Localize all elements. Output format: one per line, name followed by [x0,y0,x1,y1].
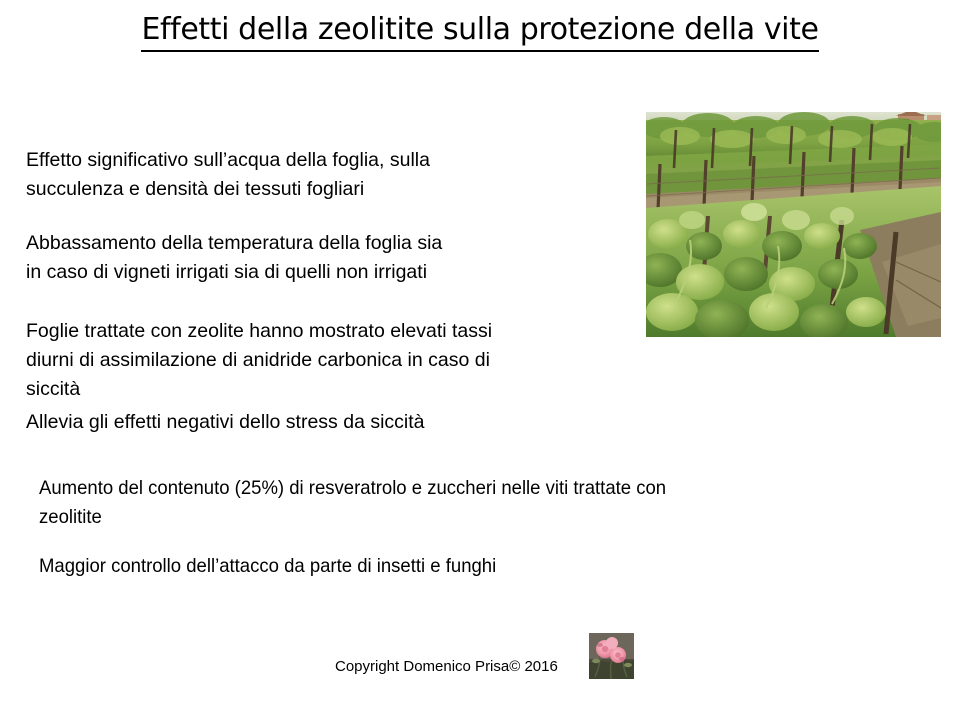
page-title: Effetti della zeolitite sulla protezione… [0,12,960,48]
text-block-stress-siccita: Allevia gli effetti negativi dello stres… [26,408,626,437]
text-block-effetto-acqua-foglia: Effetto significativo sull’acqua della f… [26,146,626,204]
text-block-assimilazione-anidride-carbonica: Foglie trattate con zeolite hanno mostra… [26,317,646,404]
text-block-abbassamento-temperatura: Abbassamento della temperatura della fog… [26,229,626,287]
page-title-text: Effetti della zeolitite sulla protezione… [141,12,818,52]
vineyard-photo [646,112,941,337]
text-block-controllo-insetti-funghi: Maggior controllo dell’attacco da parte … [39,552,894,581]
slide: Effetti della zeolitite sulla protezione… [0,0,960,720]
copyright-text: Copyright Domenico Prisa© 2016 [335,657,558,677]
text-block-resveratrolo-zuccheri: Aumento del contenuto (25%) di resveratr… [39,474,894,532]
flower-logo [589,633,634,679]
